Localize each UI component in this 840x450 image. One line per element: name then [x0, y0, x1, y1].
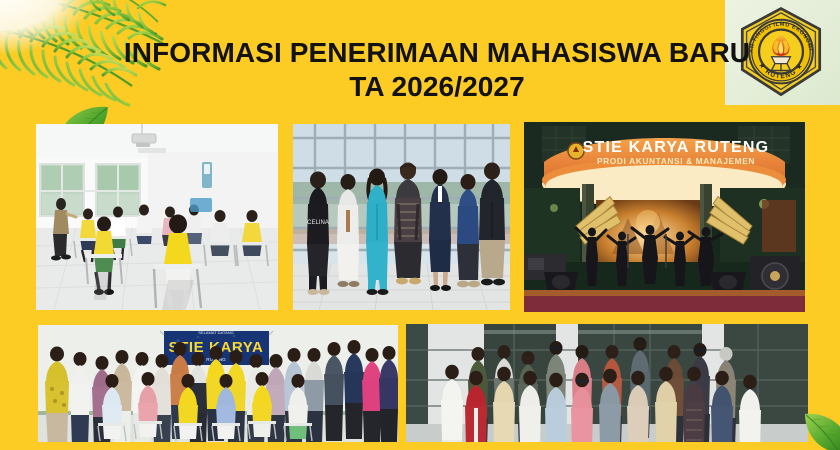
photo-students-banner: Foto bersama mahasiswa dan dosen dengan …: [38, 325, 398, 442]
svg-text:CELINA: CELINA: [307, 220, 329, 226]
poster-title-line1: INFORMASI PENERIMAAN MAHASISWA BARU: [0, 36, 840, 70]
photo-staff-group-window: Tujuh orang berfoto bersama di depan jen…: [293, 124, 510, 310]
poster-title-line2: TA 2026/2027: [0, 70, 840, 104]
photo-classroom: Ruang kelas dengan mahasiswa berseragam …: [36, 124, 278, 310]
stage-sign-line1: STIE KARYA RUTENG: [583, 139, 770, 156]
svg-text:SELAMAT DATANG: SELAMAT DATANG: [198, 330, 234, 335]
leaf-decoration: [803, 412, 840, 450]
photo-faculty-group: Foto bersama dosen dan staf di depan ged…: [406, 324, 808, 442]
poster-title: INFORMASI PENERIMAAN MAHASISWA BARU TA 2…: [0, 36, 840, 104]
stage-sign-line2: PRODI AKUNTANSI & MANAJEMEN: [597, 156, 755, 166]
photo-stage-performance: Pertunjukan tari di panggung kampus: [524, 122, 805, 312]
poster-canvas: SEKOLAH TINGGI ILMU EKONOMI KARYA ★ RUTE…: [0, 0, 840, 450]
